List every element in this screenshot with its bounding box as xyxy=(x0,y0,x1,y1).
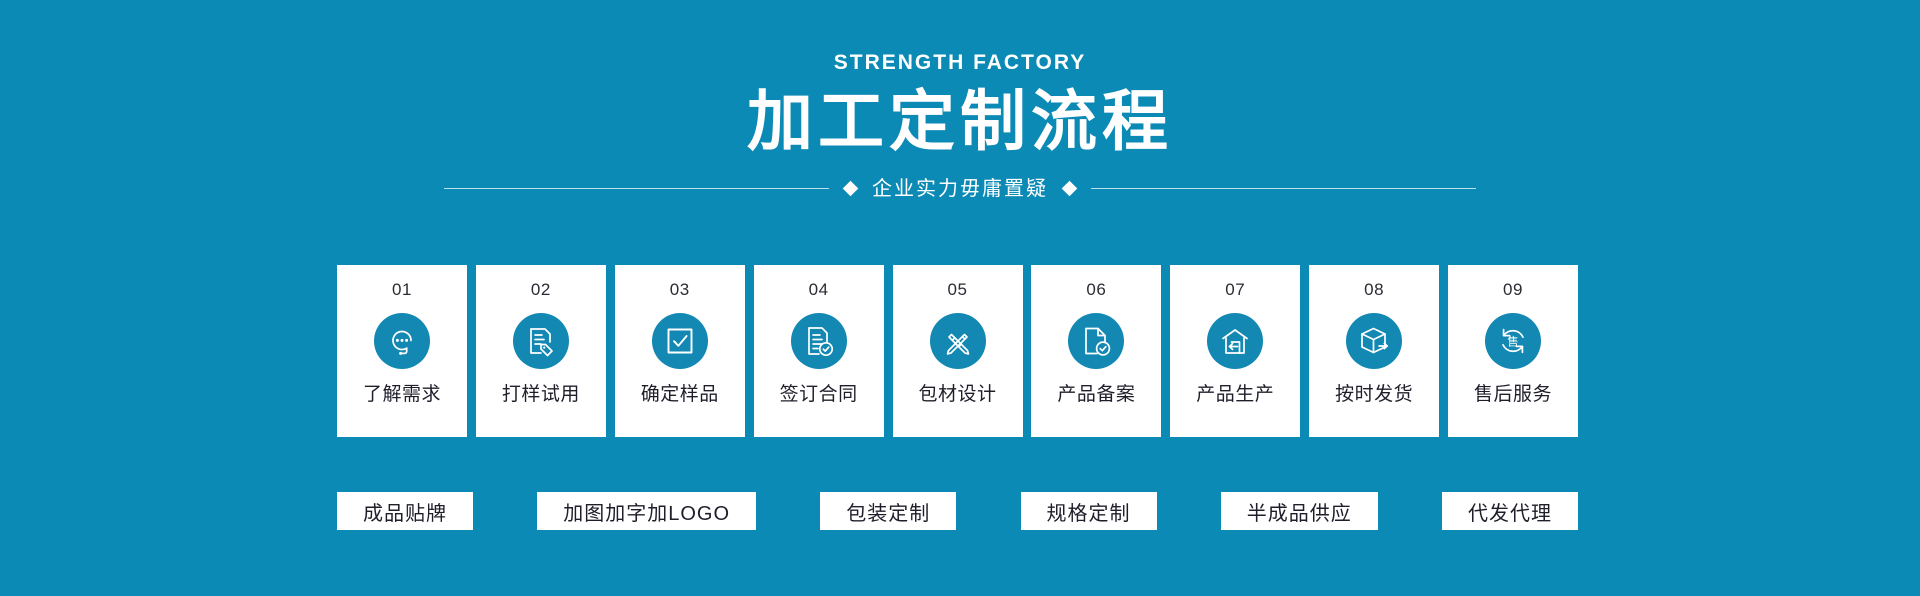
step-number: 09 xyxy=(1503,281,1523,298)
step-number: 03 xyxy=(670,281,690,298)
step-label: 签订合同 xyxy=(780,385,858,404)
step-label: 包材设计 xyxy=(918,385,996,404)
service-tag[interactable]: 加图加字加LOGO xyxy=(537,492,756,530)
document-tag-icon xyxy=(513,313,569,369)
step-card[interactable]: 06产品备案 xyxy=(1031,265,1161,437)
step-number: 01 xyxy=(392,281,412,298)
file-check-icon xyxy=(1068,313,1124,369)
step-number: 02 xyxy=(531,281,551,298)
step-number: 08 xyxy=(1364,281,1384,298)
service-tag[interactable]: 包装定制 xyxy=(820,492,956,530)
divider: 企业实力毋庸置疑 xyxy=(444,179,1476,199)
step-label: 产品生产 xyxy=(1196,385,1274,404)
step-label: 按时发货 xyxy=(1335,385,1413,404)
divider-rule-left xyxy=(444,188,829,189)
step-card[interactable]: 03确定样品 xyxy=(615,265,745,437)
pencil-ruler-icon xyxy=(930,313,986,369)
svg-text:售: 售 xyxy=(1507,335,1519,349)
warehouse-arrow-icon xyxy=(1207,313,1263,369)
step-number: 06 xyxy=(1086,281,1106,298)
step-number: 07 xyxy=(1225,281,1245,298)
page-title: 加工定制流程 xyxy=(0,87,1920,157)
step-label: 产品备案 xyxy=(1057,385,1135,404)
service-tag[interactable]: 规格定制 xyxy=(1021,492,1157,530)
contract-check-icon xyxy=(791,313,847,369)
service-tags: 成品贴牌加图加字加LOGO包装定制规格定制半成品供应代发代理 xyxy=(337,492,1578,530)
step-card[interactable]: 01了解需求 xyxy=(337,265,467,437)
step-card[interactable]: 05包材设计 xyxy=(893,265,1023,437)
box-shipping-icon xyxy=(1346,313,1402,369)
diamond-left-icon xyxy=(843,181,859,197)
service-tag[interactable]: 代发代理 xyxy=(1442,492,1578,530)
step-card[interactable]: 02打样试用 xyxy=(476,265,606,437)
banner-header: STRENGTH FACTORY 加工定制流程 企业实力毋庸置疑 xyxy=(0,0,1920,199)
after-sales-refresh-icon: 售 xyxy=(1485,313,1541,369)
process-banner: STRENGTH FACTORY 加工定制流程 企业实力毋庸置疑 01了解需求0… xyxy=(0,0,1920,596)
step-card[interactable]: 04签订合同 xyxy=(754,265,884,437)
step-label: 了解需求 xyxy=(363,385,441,404)
divider-subtitle: 企业实力毋庸置疑 xyxy=(872,179,1048,199)
diamond-right-icon xyxy=(1062,181,1078,197)
headset-chat-icon xyxy=(374,313,430,369)
step-card[interactable]: 07产品生产 xyxy=(1170,265,1300,437)
step-card[interactable]: 08按时发货 xyxy=(1309,265,1439,437)
step-card[interactable]: 09售售后服务 xyxy=(1448,265,1578,437)
process-steps: 01了解需求02打样试用03确定样品04签订合同05包材设计06产品备案07产品… xyxy=(337,265,1578,437)
step-number: 04 xyxy=(809,281,829,298)
eyebrow-text: STRENGTH FACTORY xyxy=(0,52,1920,73)
step-label: 打样试用 xyxy=(502,385,580,404)
divider-rule-right xyxy=(1091,188,1476,189)
service-tag[interactable]: 半成品供应 xyxy=(1221,492,1378,530)
step-label: 售后服务 xyxy=(1474,385,1552,404)
service-tag[interactable]: 成品贴牌 xyxy=(337,492,473,530)
checkbox-icon xyxy=(652,313,708,369)
step-number: 05 xyxy=(948,281,968,298)
step-label: 确定样品 xyxy=(641,385,719,404)
